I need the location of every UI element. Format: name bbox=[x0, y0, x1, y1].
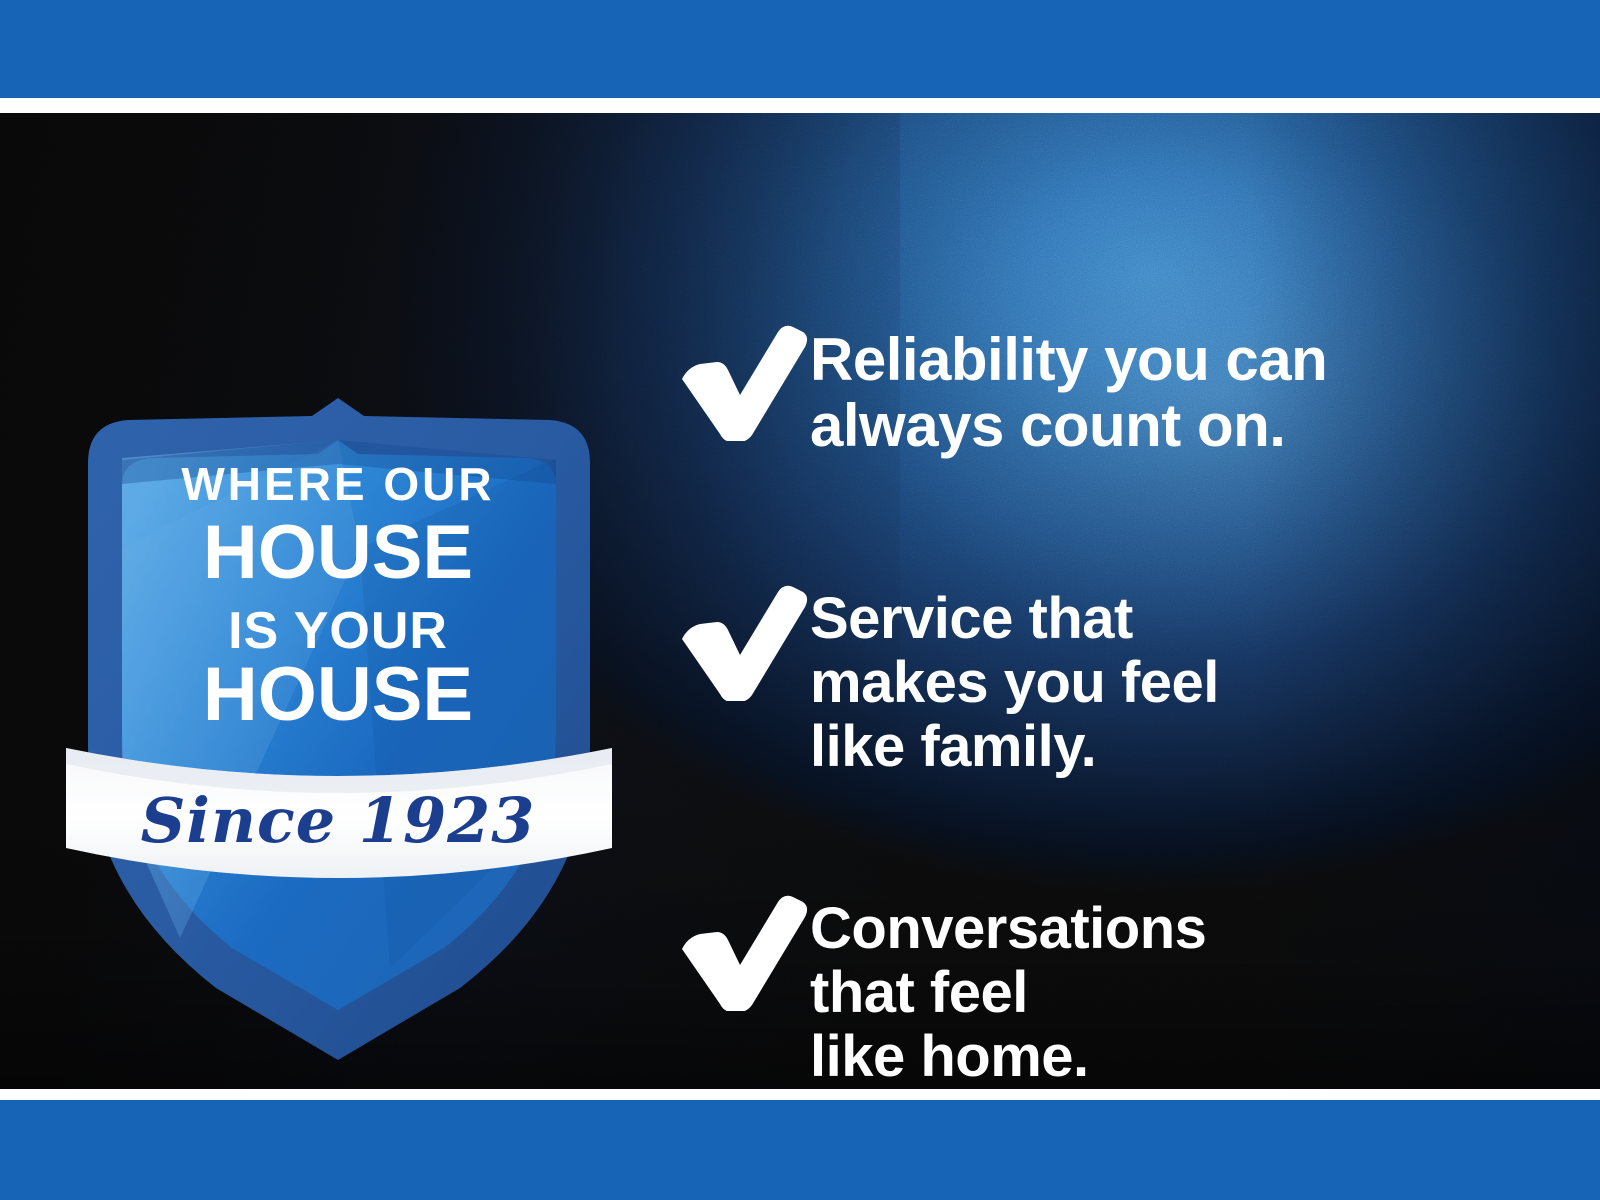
check-icon bbox=[660, 581, 810, 701]
logo-line-1: WHERE OUR bbox=[181, 458, 494, 510]
list-item: Service that makes you feel like family. bbox=[660, 581, 1219, 778]
top-brand-bar bbox=[0, 0, 1600, 98]
logo-line-4: HOUSE bbox=[203, 652, 473, 737]
bottom-brand-bar bbox=[0, 1100, 1600, 1200]
company-shield-logo: WHERE OUR HOUSE IS YOUR HOUSE Since 1923 bbox=[60, 248, 640, 1068]
bottom-divider-stripe bbox=[0, 1089, 1600, 1100]
promo-banner: WHERE OUR HOUSE IS YOUR HOUSE Since 1923 bbox=[0, 0, 1600, 1200]
check-icon bbox=[660, 321, 810, 441]
logo-ribbon-text: Since 1923 bbox=[141, 784, 536, 857]
list-item: Conversations that feel like home. bbox=[660, 891, 1206, 1088]
top-divider-stripe bbox=[0, 98, 1600, 113]
benefits-checklist: Reliability you can always count on. Ser… bbox=[660, 226, 1560, 1091]
logo-line-2: HOUSE bbox=[203, 510, 473, 595]
check-icon bbox=[660, 891, 810, 1011]
list-item-text: Reliability you can always count on. bbox=[810, 327, 1327, 459]
list-item-text: Conversations that feel like home. bbox=[810, 897, 1206, 1088]
list-item: Reliability you can always count on. bbox=[660, 321, 1327, 459]
banner-canvas: WHERE OUR HOUSE IS YOUR HOUSE Since 1923 bbox=[0, 113, 1600, 1091]
list-item-text: Service that makes you feel like family. bbox=[810, 587, 1219, 778]
